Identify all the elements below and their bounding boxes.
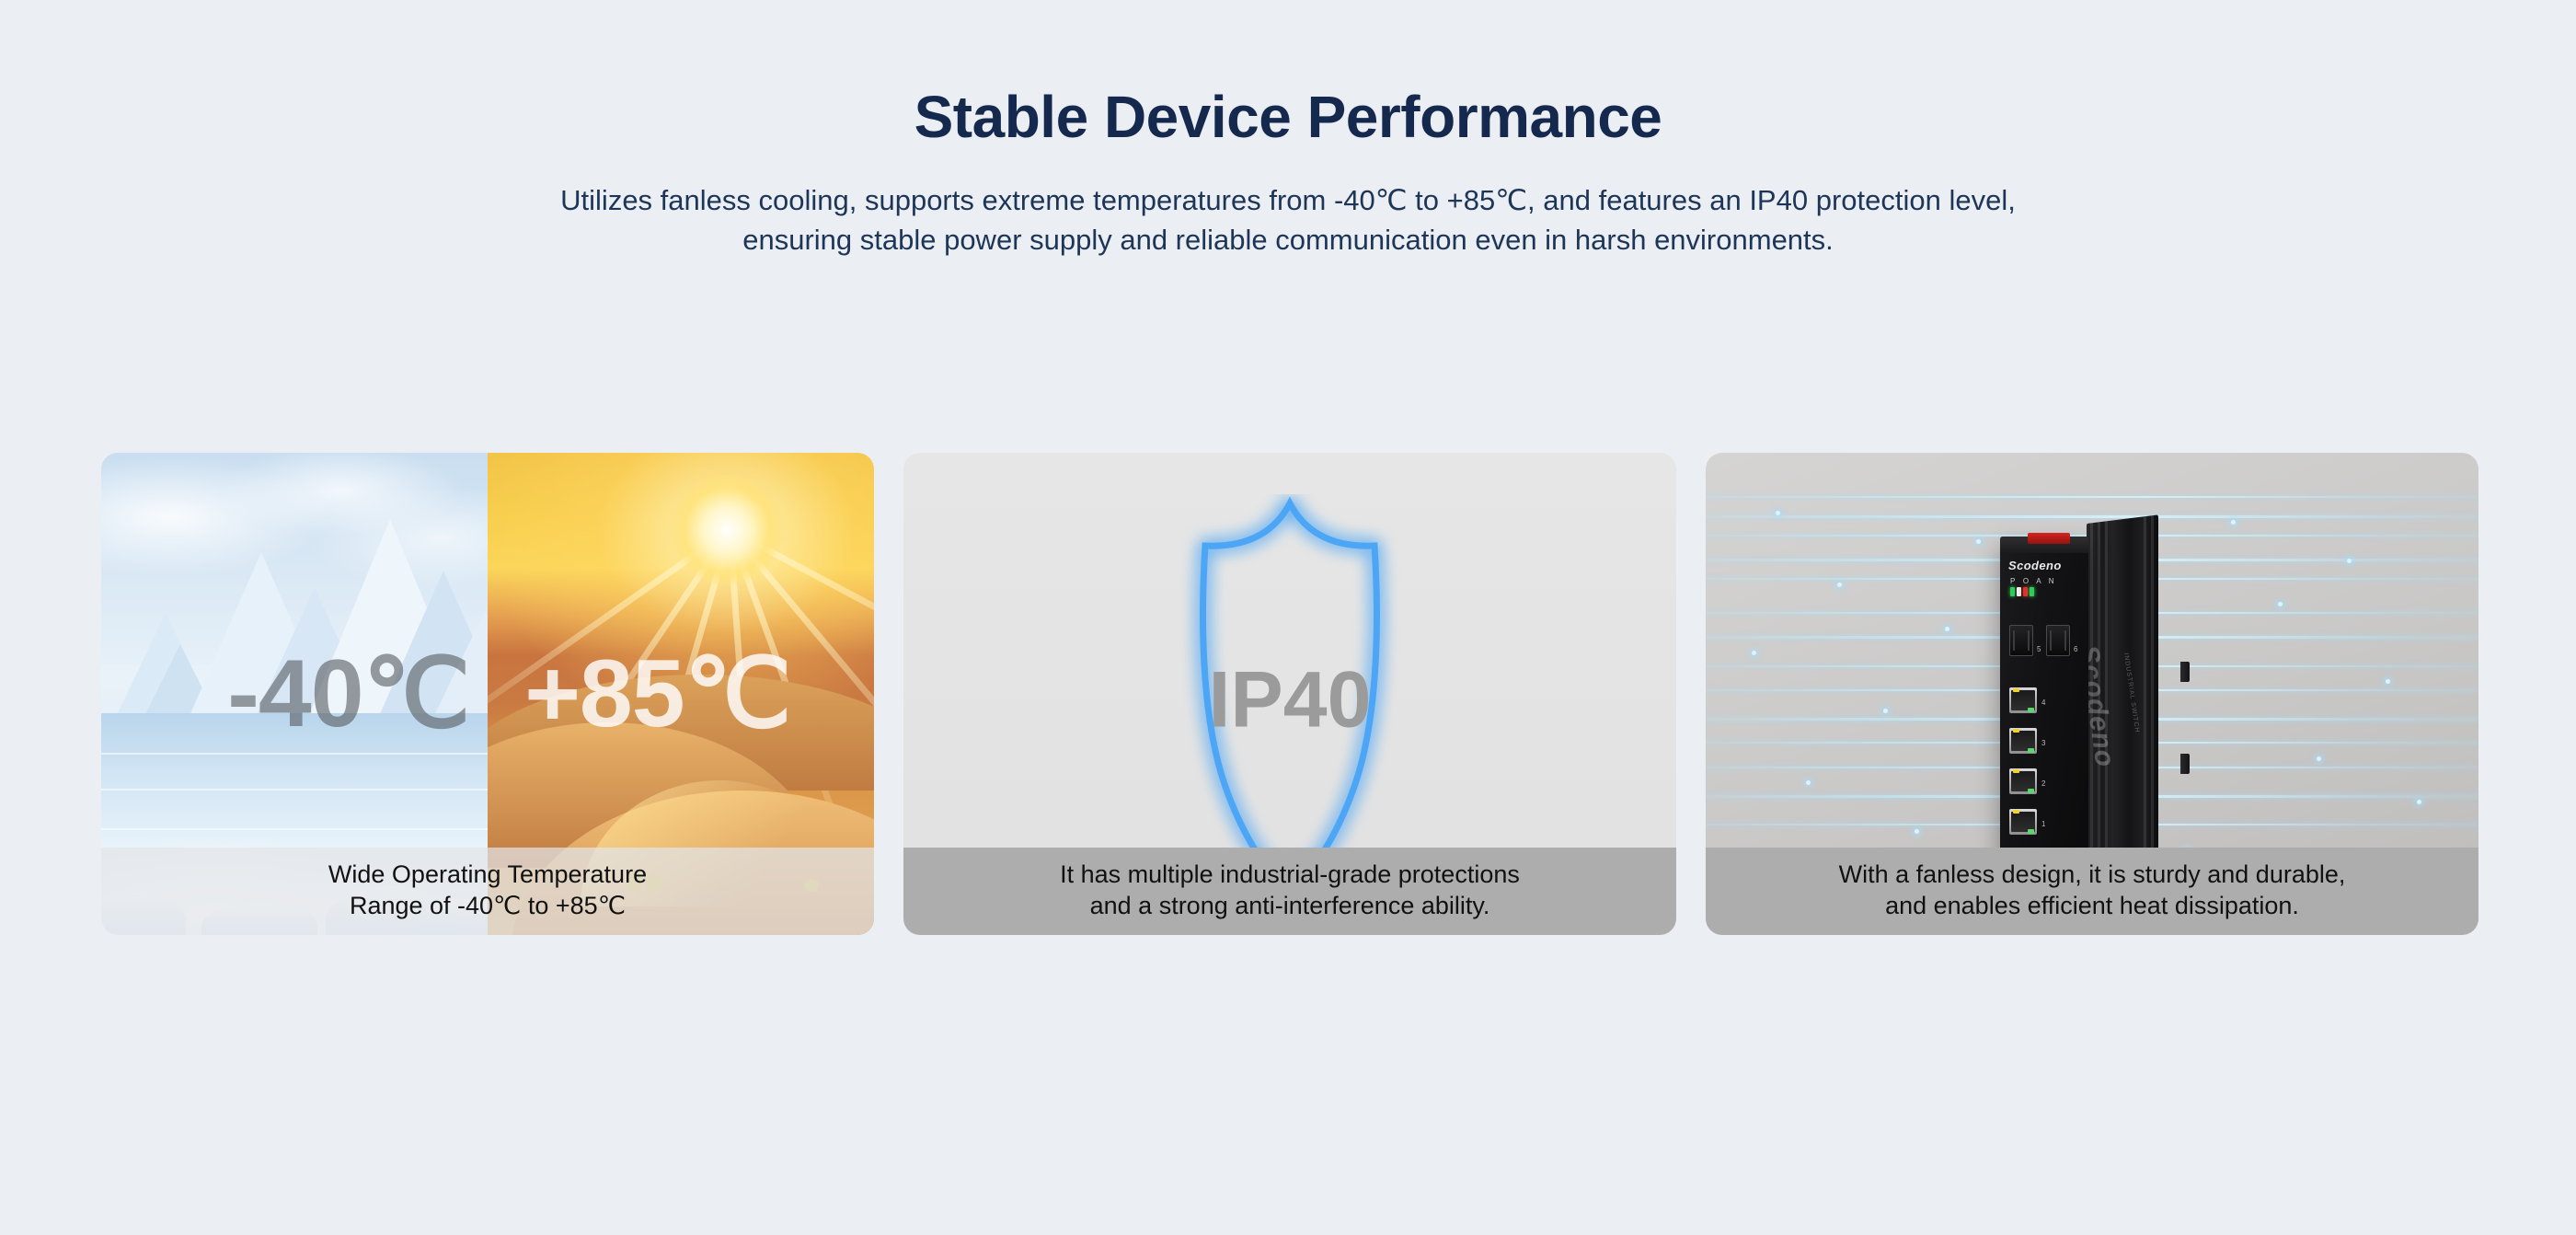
caption-line-2: and a strong anti-interference ability. [916,890,1663,922]
card-caption: Wide Operating Temperature Range of -40℃… [101,848,874,935]
ip-rating-label: IP40 [903,654,1676,745]
led-network [2030,587,2034,596]
rj45-port-3 [2009,728,2037,754]
port-number: 5 [2037,645,2041,653]
port-number: 2 [2041,779,2045,788]
cold-temperature-overlay: -40℃ [101,646,488,742]
led-power [2010,587,2015,596]
card-caption: It has multiple industrial-grade protect… [903,848,1676,935]
device-brand-logo: Scodeno [2008,559,2062,572]
page-title: Stable Device Performance [0,87,2576,146]
industrial-switch-device: Scodeno INDUSTRIAL SWITCH Scodeno P O A … [2000,524,2184,883]
device-front-panel: Scodeno P O A N 5 6 [2000,537,2088,875]
card-caption: With a fanless design, it is sturdy and … [1706,848,2478,935]
card-wide-temperature[interactable]: -40℃ +85℃ Wide Operating Temperature Ran… [101,453,874,935]
card-ip40-protection[interactable]: IP40 It has multiple industrial-grade pr… [903,453,1676,935]
caption-line-1: Wide Operating Temperature [114,859,861,891]
caption-line-1: It has multiple industrial-grade protect… [916,859,1663,891]
port-number: 3 [2041,739,2045,747]
port-number: 4 [2041,698,2045,707]
led-o [2017,587,2021,596]
sun-icon [672,475,782,585]
port-number: 6 [2074,645,2077,653]
status-led-group: P O A N [2010,577,2057,596]
caption-line-2: and enables efficient heat dissipation. [1719,890,2466,922]
stable-device-performance-section: Stable Device Performance Utilizes fanle… [0,0,2576,1235]
subtitle-line-2: ensuring stable power supply and reliabl… [0,221,2576,260]
feature-card-row: -40℃ +85℃ Wide Operating Temperature Ran… [101,453,2475,935]
port-number: 1 [2041,820,2045,828]
subtitle-line-1: Utilizes fanless cooling, supports extre… [0,181,2576,221]
rj45-port-1 [2009,809,2037,835]
sfp-port-5 [2009,625,2033,656]
din-rail-clip [2028,533,2070,544]
card-fanless-design[interactable]: Scodeno INDUSTRIAL SWITCH Scodeno P O A … [1706,453,2478,935]
sfp-port-6 [2046,625,2070,656]
caption-line-2: Range of -40℃ to +85℃ [114,890,861,922]
rj45-port-4 [2009,687,2037,713]
section-header: Stable Device Performance Utilizes fanle… [0,0,2576,260]
led-alarm [2023,587,2028,596]
rj45-port-2 [2009,768,2037,794]
led-labels: P O A N [2010,577,2057,585]
caption-line-1: With a fanless design, it is sturdy and … [1719,859,2466,891]
hot-temperature-overlay: +85℃ [488,646,874,742]
page-subtitle: Utilizes fanless cooling, supports extre… [0,181,2576,260]
